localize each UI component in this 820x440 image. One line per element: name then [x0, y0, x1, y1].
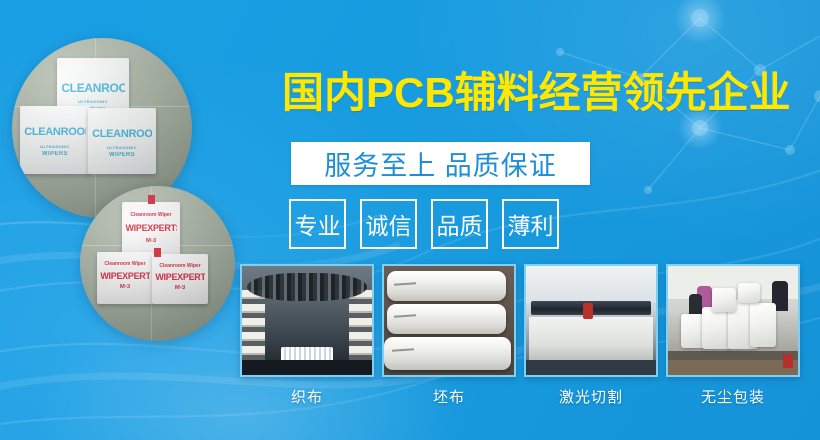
keyword-box-quality: 品质: [431, 199, 488, 249]
thumbnail-caption: 无尘包装: [666, 386, 800, 407]
keyword-box-integrity: 诚信: [360, 199, 417, 249]
thumbnail-caption: 织布: [240, 386, 374, 407]
thumbnail-item-dustfree-packing[interactable]: 无尘包装: [666, 264, 800, 407]
keyword-box-low-margin: 薄利: [502, 199, 559, 249]
thumbnail-image-dustfree-packing[interactable]: [666, 264, 800, 377]
subtitle-plate: 服务至上 品质保证: [291, 142, 590, 185]
thumbnail-image-greige-fabric[interactable]: [382, 264, 516, 377]
keyword-label: 诚信: [366, 207, 412, 241]
product-photo-wipexperts-circle: Cleanroom Wiper WIPEXPERTS M-3 Cleanroom…: [80, 186, 235, 341]
thumbnail-caption: 坯布: [382, 386, 516, 407]
thumbnail-caption: 激光切割: [524, 386, 658, 407]
thumbnail-item-greige-fabric[interactable]: 坯布: [382, 264, 516, 407]
page-title: 国内PCB辅料经营领先企业: [282, 72, 791, 114]
keyword-box-professional: 专业: [289, 199, 346, 249]
thumbnail-image-laser-cutting[interactable]: [524, 264, 658, 377]
promo-banner: CLEANROOM ULTRASONIC WIPERS CLEANROOM UL…: [0, 0, 820, 440]
subtitle-text: 服务至上 品质保证: [324, 144, 557, 183]
keyword-label: 品质: [437, 207, 483, 241]
thumbnail-item-weaving[interactable]: 织布: [240, 264, 374, 407]
process-thumbnail-row: 织布 坯布: [240, 264, 800, 407]
thumbnail-item-laser-cutting[interactable]: 激光切割: [524, 264, 658, 407]
keyword-label: 薄利: [508, 207, 554, 241]
keyword-label: 专业: [295, 207, 341, 241]
keyword-box-group: 专业 诚信 品质 薄利: [289, 199, 559, 249]
thumbnail-image-weaving[interactable]: [240, 264, 374, 377]
